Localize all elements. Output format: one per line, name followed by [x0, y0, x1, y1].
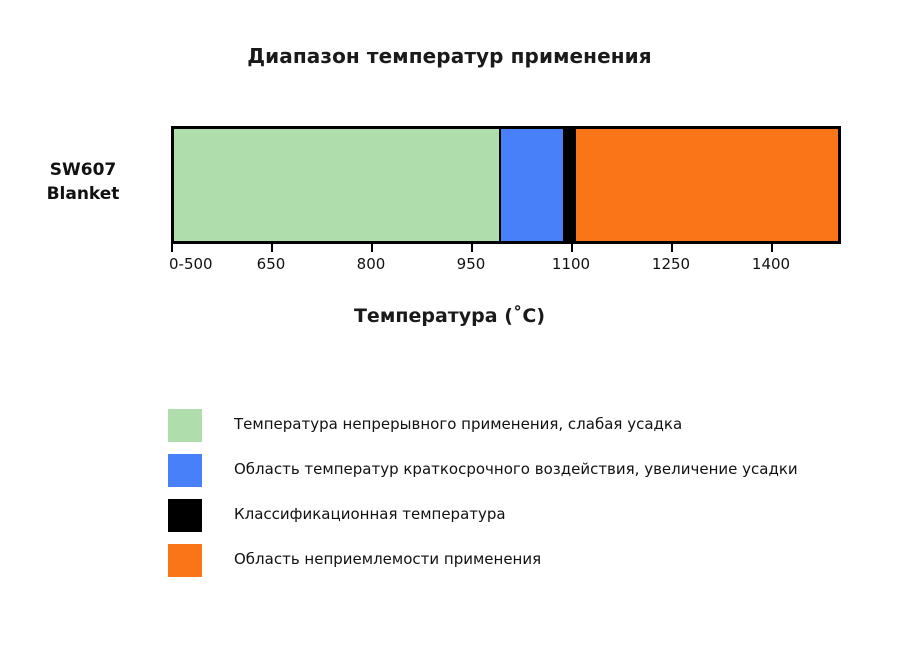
- x-tick-label: 1100: [552, 255, 590, 273]
- x-tick-label: 800: [357, 255, 386, 273]
- x-tick-mark: [571, 243, 573, 252]
- bar-segment-short-term-exposure: [501, 129, 565, 241]
- x-tick-mark: [671, 243, 673, 252]
- category-axis-label: SW607 Blanket: [10, 158, 156, 206]
- legend-item: Область температур краткосрочного воздей…: [168, 454, 868, 499]
- x-tick-mark: [771, 243, 773, 252]
- x-tick-label: 1400: [752, 255, 790, 273]
- legend-swatch: [168, 454, 202, 487]
- x-tick-label: 650: [257, 255, 286, 273]
- legend-item: Область неприемлемости применения: [168, 544, 868, 589]
- legend-label: Температура непрерывного применения, сла…: [234, 415, 682, 433]
- x-tick-label: 0-500: [169, 255, 213, 273]
- legend-label: Область неприемлемости применения: [234, 550, 541, 568]
- bar-segment-classification-temperature: [565, 129, 576, 241]
- category-label-line-2: Blanket: [10, 182, 156, 206]
- chart-legend: Температура непрерывного применения, сла…: [168, 409, 868, 589]
- x-tick-mark: [271, 243, 273, 252]
- x-axis-title: Температура (˚C): [0, 305, 899, 327]
- x-tick-mark: [371, 243, 373, 252]
- stacked-bar-sw607-blanket: [171, 126, 841, 244]
- x-tick-mark: [171, 243, 173, 252]
- bar-segment-unacceptable-range: [576, 129, 838, 241]
- legend-item: Классификационная температура: [168, 499, 868, 544]
- x-axis: 0-500650800950110012501400: [171, 243, 841, 283]
- legend-swatch: [168, 409, 202, 442]
- legend-label: Классификационная температура: [234, 505, 506, 523]
- x-tick-label: 950: [457, 255, 486, 273]
- x-tick-mark: [471, 243, 473, 252]
- x-tick-label: 1250: [652, 255, 690, 273]
- plot-area: [171, 126, 841, 244]
- legend-label: Область температур краткосрочного воздей…: [234, 460, 798, 478]
- bar-segment-continuous-use: [174, 129, 501, 241]
- category-label-line-1: SW607: [10, 158, 156, 182]
- legend-swatch: [168, 544, 202, 577]
- legend-swatch: [168, 499, 202, 532]
- chart-title: Диапазон температур применения: [0, 44, 899, 68]
- legend-item: Температура непрерывного применения, сла…: [168, 409, 868, 454]
